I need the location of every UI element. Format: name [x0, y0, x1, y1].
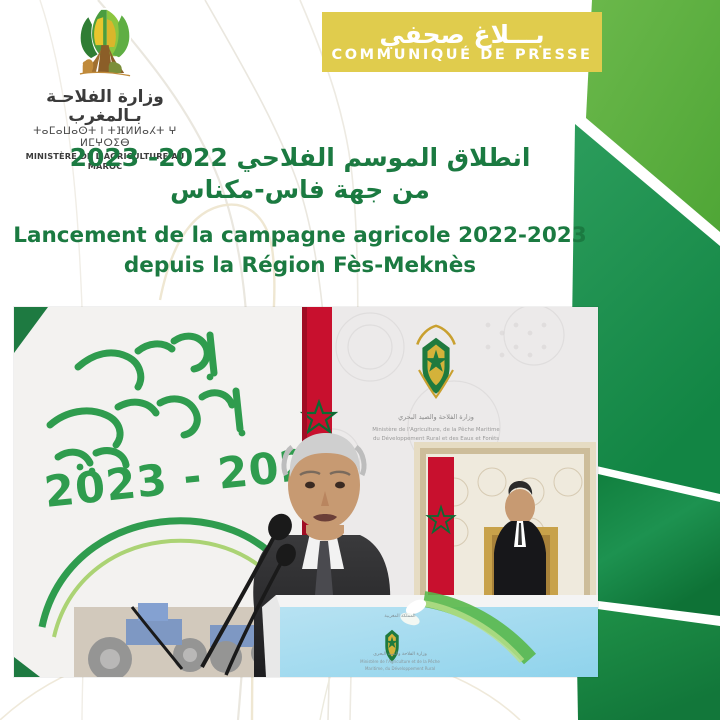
svg-text:du Développement Rural et des: du Développement Rural et des Eaux et Fo…: [373, 435, 499, 442]
press-banner-arabic: بـــلاغ صحفي: [379, 22, 544, 47]
press-banner-french: COMMUNIQUÉ DE PRESSE: [331, 48, 592, 63]
logo-arabic-name: وزارة الفلاحـة بـالمغرب: [10, 88, 200, 125]
svg-text:وزارة الفلاحة والصيد البحري: وزارة الفلاحة والصيد البحري: [398, 413, 474, 421]
podium: المملكة المغربية وزارة الفلاحة والصيد ال…: [262, 595, 598, 677]
headline-french-line1: Lancement de la campagne agricole 2022-2…: [0, 222, 600, 250]
svg-text:المملكة المغربية: المملكة المغربية: [384, 613, 415, 619]
press-conference-photo: 2023 - 2022: [14, 307, 598, 677]
svg-text:وزارة الفلاحة والصيد البحري: وزارة الفلاحة والصيد البحري: [373, 652, 427, 657]
headline-french-line2: depuis la Région Fès-Meknès: [0, 252, 600, 280]
press-release-banner: بـــلاغ صحفي COMMUNIQUÉ DE PRESSE: [322, 12, 602, 72]
headline-arabic-line2: من جهة فاس-مكناس: [0, 174, 600, 206]
svg-text:Maritime, du Développement Rur: Maritime, du Développement Rural: [365, 666, 435, 671]
headline-block: انطلاق الموسم الفلاحي 2022- 2023 من جهة …: [0, 142, 600, 280]
agriculture-tree-logo-icon: [60, 8, 150, 86]
svg-text:Ministère de l'Agriculture, de: Ministère de l'Agriculture, de la Pêche …: [372, 426, 500, 433]
svg-text:Ministère de l'Agriculture et: Ministère de l'Agriculture et de la Pêch…: [360, 659, 440, 664]
headline-arabic-line1: انطلاق الموسم الفلاحي 2022- 2023: [0, 142, 600, 174]
press-release-card: وزارة الفلاحـة بـالمغرب ⵜⴰⵎⴰⵡⴰⵙⵜ ⵏ ⵜⴼⵍⵍⴰ…: [0, 0, 720, 720]
